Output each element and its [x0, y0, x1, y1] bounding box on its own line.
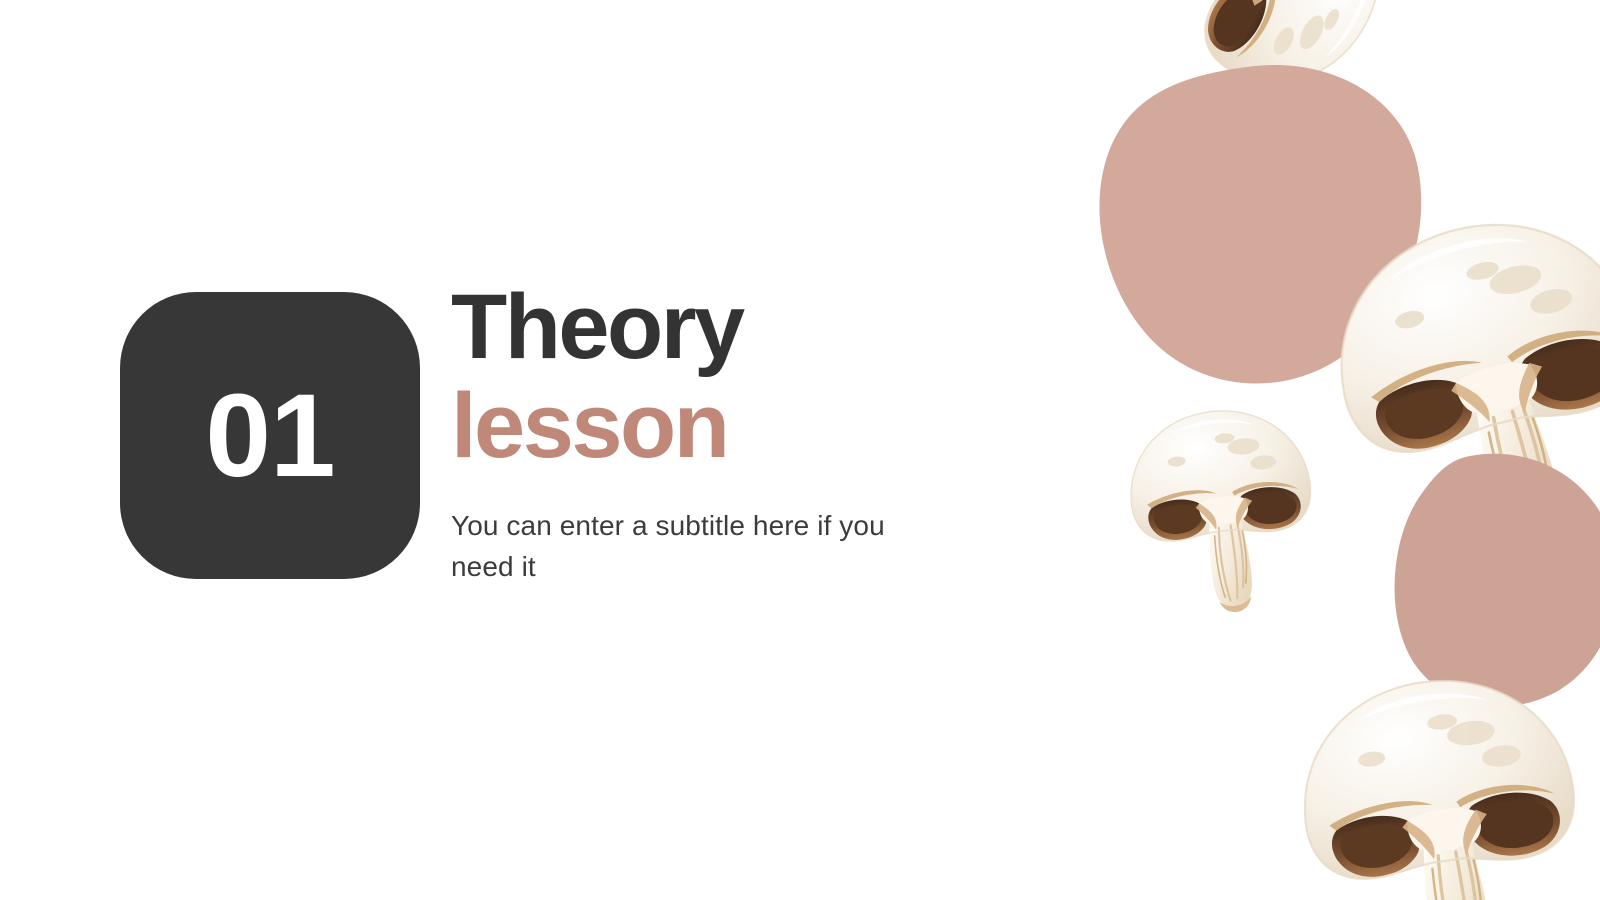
organic-blob-lower — [1395, 454, 1600, 707]
mushroom-half-left — [1123, 402, 1323, 622]
mushroom-half-top — [1112, 0, 1414, 116]
slide-content: 01 Theory lesson You can enter a subtitl… — [0, 0, 1000, 900]
title-line-primary: Theory — [451, 278, 971, 377]
mushroom-half-bottom — [1289, 664, 1598, 900]
section-number-text: 01 — [205, 377, 334, 495]
page-title: Theory lesson — [451, 278, 971, 477]
title-line-accent: lesson — [451, 377, 971, 476]
section-number-badge: 01 — [120, 292, 420, 579]
presentation-slide: 01 Theory lesson You can enter a subtitl… — [0, 0, 1600, 900]
mushroom-half-right — [1312, 194, 1600, 589]
slide-subtitle: You can enter a subtitle here if you nee… — [451, 506, 921, 588]
decorative-artwork — [1000, 0, 1600, 900]
organic-blob-upper — [1099, 65, 1421, 384]
